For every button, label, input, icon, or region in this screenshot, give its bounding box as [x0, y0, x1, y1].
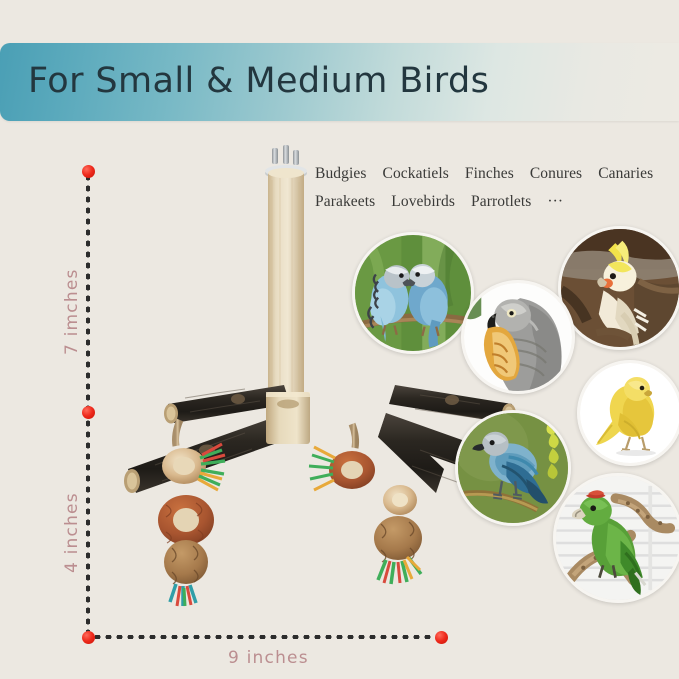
dotted-line-height-upper	[86, 172, 90, 412]
amazon-parrot-photo	[553, 473, 679, 603]
species-row-1: Budgies Cockatiels Finches Conures Canar…	[315, 160, 675, 188]
dotted-line-width	[92, 635, 442, 639]
budgies-photo	[352, 232, 474, 354]
hanging-hardware	[265, 145, 307, 180]
blue-grey-tanager-photo	[455, 410, 571, 526]
species-item-finches: Finches	[465, 165, 514, 182]
species-item-budgies: Budgies	[315, 165, 367, 182]
canary-photo	[577, 360, 679, 466]
species-item-ellipsis: ···	[547, 193, 563, 210]
wooden-dowel	[268, 168, 304, 405]
african-grey-photo	[461, 280, 575, 394]
species-list: Budgies Cockatiels Finches Conures Canar…	[315, 160, 675, 216]
dotted-line-height-lower	[86, 418, 90, 638]
dimension-label-height-upper: 7 imches	[62, 268, 82, 355]
marker-bottom-right	[435, 631, 448, 644]
header-banner: For Small & Medium Birds	[0, 43, 679, 121]
species-item-lovebirds: Lovebirds	[391, 193, 455, 210]
cockatiel-photo	[558, 226, 679, 350]
foraging-strand-left	[158, 420, 225, 606]
infographic-canvas: For Small & Medium Birds Budgies Cockati…	[0, 0, 679, 679]
marker-top	[82, 165, 95, 178]
foraging-strand-right	[309, 424, 422, 584]
species-item-canaries: Canaries	[598, 165, 653, 182]
page-title: For Small & Medium Birds	[28, 61, 489, 101]
dimension-label-height-lower: 4 inches	[62, 492, 82, 573]
species-row-2: Parakeets Lovebirds Parrotlets ···	[315, 188, 675, 216]
marker-bottom-left	[82, 631, 95, 644]
marker-middle	[82, 406, 95, 419]
species-item-parrotlets: Parrotlets	[471, 193, 531, 210]
species-item-cockatiels: Cockatiels	[383, 165, 449, 182]
species-item-parakeets: Parakeets	[315, 193, 375, 210]
dimension-label-width: 9 inches	[228, 648, 309, 668]
species-item-conures: Conures	[530, 165, 582, 182]
